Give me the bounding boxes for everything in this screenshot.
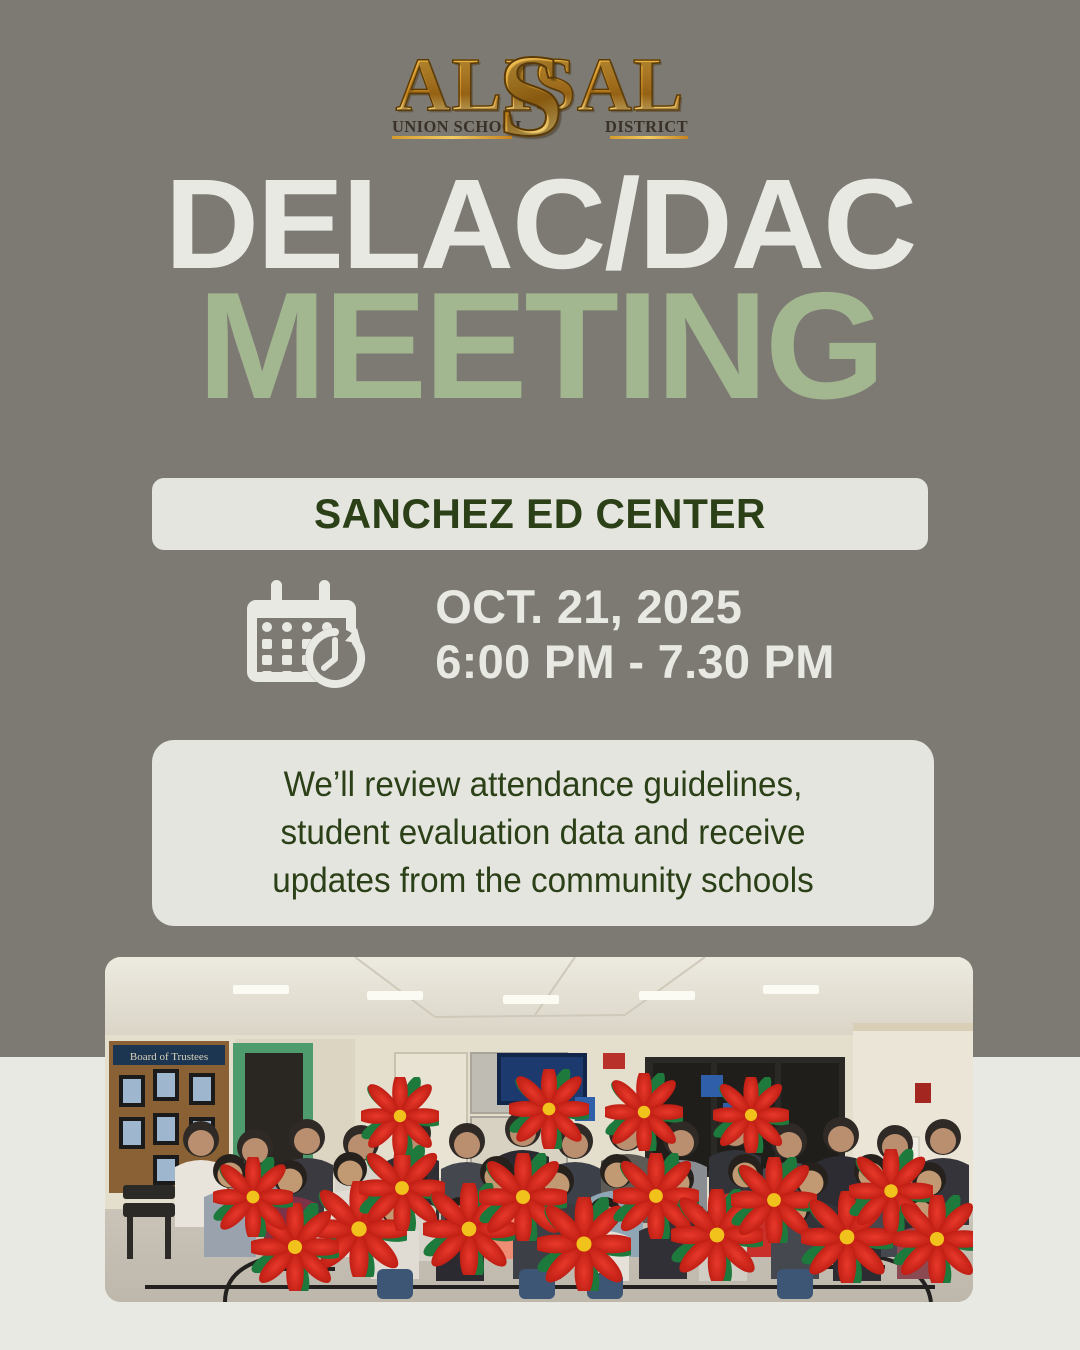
- page-title: DELAC/DAC MEETING: [0, 174, 1080, 408]
- district-logo: ALISAL UNION SCHOOL DISTRICT S: [0, 46, 1080, 156]
- event-datetime: OCT. 21, 2025 6:00 PM - 7.30 PM: [435, 579, 835, 690]
- calendar-clock-icon: [245, 578, 375, 690]
- description-card: We’ll review attendance guidelines, stud…: [152, 740, 934, 926]
- event-photo: Board of Trustees: [105, 957, 973, 1302]
- logo-rule-right: [610, 136, 688, 139]
- poster-canvas: ALISAL UNION SCHOOL DISTRICT S DELAC/DAC…: [0, 0, 1080, 1350]
- venue-bar: SANCHEZ ED CENTER: [152, 478, 928, 550]
- svg-text:Board of Trustees: Board of Trustees: [130, 1051, 208, 1063]
- logo-lockup: ALISAL UNION SCHOOL DISTRICT S: [390, 49, 690, 154]
- description-text: We’ll review attendance guidelines, stud…: [272, 761, 813, 906]
- venue-name: SANCHEZ ED CENTER: [314, 490, 766, 538]
- title-line-meeting: MEETING: [0, 286, 1080, 408]
- datetime-row: OCT. 21, 2025 6:00 PM - 7.30 PM: [0, 578, 1080, 690]
- logo-rule-left: [392, 136, 512, 139]
- logo-big-s-letter: S: [498, 37, 564, 155]
- logo-subtitle-right: DISTRICT: [605, 117, 688, 136]
